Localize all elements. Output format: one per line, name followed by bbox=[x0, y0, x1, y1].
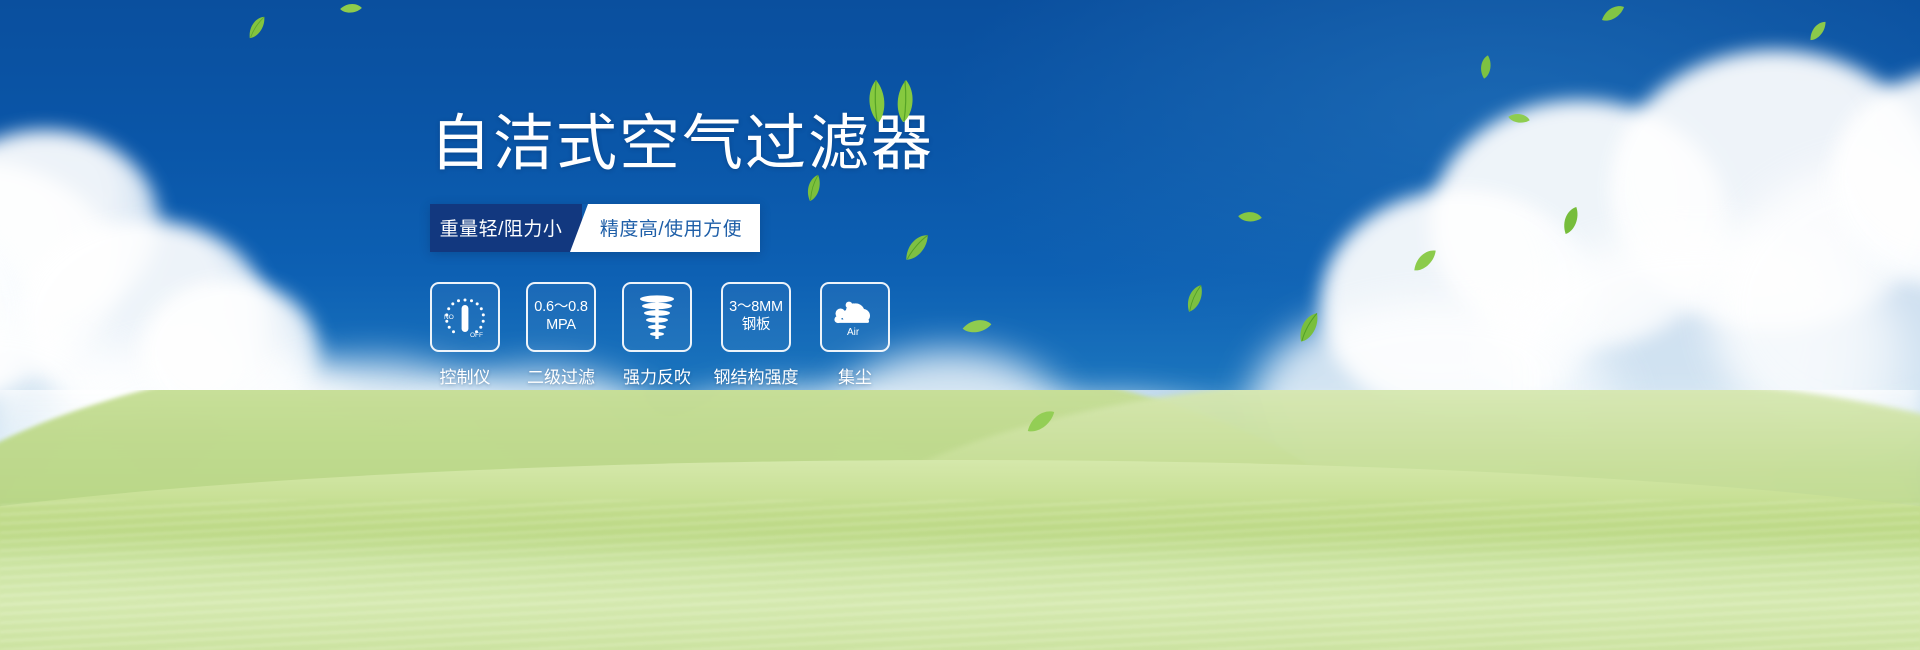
feature-item-dust-collection[interactable]: Air 集尘 bbox=[820, 282, 890, 388]
feature-label: 钢结构强度 bbox=[714, 363, 799, 388]
feature-label: 控制仪 bbox=[440, 363, 491, 388]
tag-label: 重量轻/阻力小 bbox=[440, 214, 563, 241]
filter-stack-discs-icon bbox=[634, 293, 680, 341]
air-label: Air bbox=[847, 327, 860, 338]
grass-ground bbox=[0, 390, 1920, 650]
control-dial-gauge-icon: NO OFF bbox=[440, 292, 490, 342]
tag-precision-convenience[interactable]: 精度高/使用方便 bbox=[570, 204, 760, 252]
feature-item-steel-plate[interactable]: 3～8MM 钢板 钢结构强度 bbox=[718, 282, 794, 388]
feature-label: 强力反吹 bbox=[623, 363, 691, 388]
tag-label: 精度高/使用方便 bbox=[600, 214, 742, 241]
feature-icon-row: NO OFF 控制仪 0.6～0.8 MPA 二级过滤 bbox=[430, 282, 1090, 388]
title-block: 自洁式空气过滤器 bbox=[430, 108, 934, 180]
feature-icon-box: 0.6～0.8 MPA bbox=[526, 282, 596, 352]
two-sprout-leaves-icon bbox=[854, 78, 926, 124]
feature-label: 集尘 bbox=[838, 363, 872, 388]
feature-item-pressure[interactable]: 0.6～0.8 MPA 二级过滤 bbox=[526, 282, 596, 388]
hero-banner: 自洁式空气过滤器 重量轻/阻力小 精度高/使用方便 bbox=[0, 0, 1920, 650]
grass-texture bbox=[0, 500, 1920, 650]
feature-item-backblow[interactable]: 强力反吹 bbox=[622, 282, 692, 388]
svg-text:OFF: OFF bbox=[470, 332, 483, 339]
pressure-text-icon: 0.6～0.8 MPA bbox=[534, 299, 587, 334]
feature-item-control-dial[interactable]: NO OFF 控制仪 bbox=[430, 282, 500, 388]
banner-content: 自洁式空气过滤器 重量轻/阻力小 精度高/使用方便 bbox=[430, 108, 1090, 388]
tag-weight-resistance[interactable]: 重量轻/阻力小 bbox=[430, 204, 582, 252]
steel-plate-text-icon: 3～8MM 钢板 bbox=[729, 299, 783, 334]
dust-cloud-air-icon: Air bbox=[829, 295, 881, 339]
svg-text:NO: NO bbox=[444, 314, 454, 321]
feature-icon-box: 3～8MM 钢板 bbox=[721, 282, 791, 352]
feature-icon-box: Air bbox=[820, 282, 890, 352]
tagline-row: 重量轻/阻力小 精度高/使用方便 bbox=[430, 204, 760, 252]
feature-icon-box: NO OFF bbox=[430, 282, 500, 352]
feature-label: 二级过滤 bbox=[527, 363, 595, 388]
feature-icon-box bbox=[622, 282, 692, 352]
